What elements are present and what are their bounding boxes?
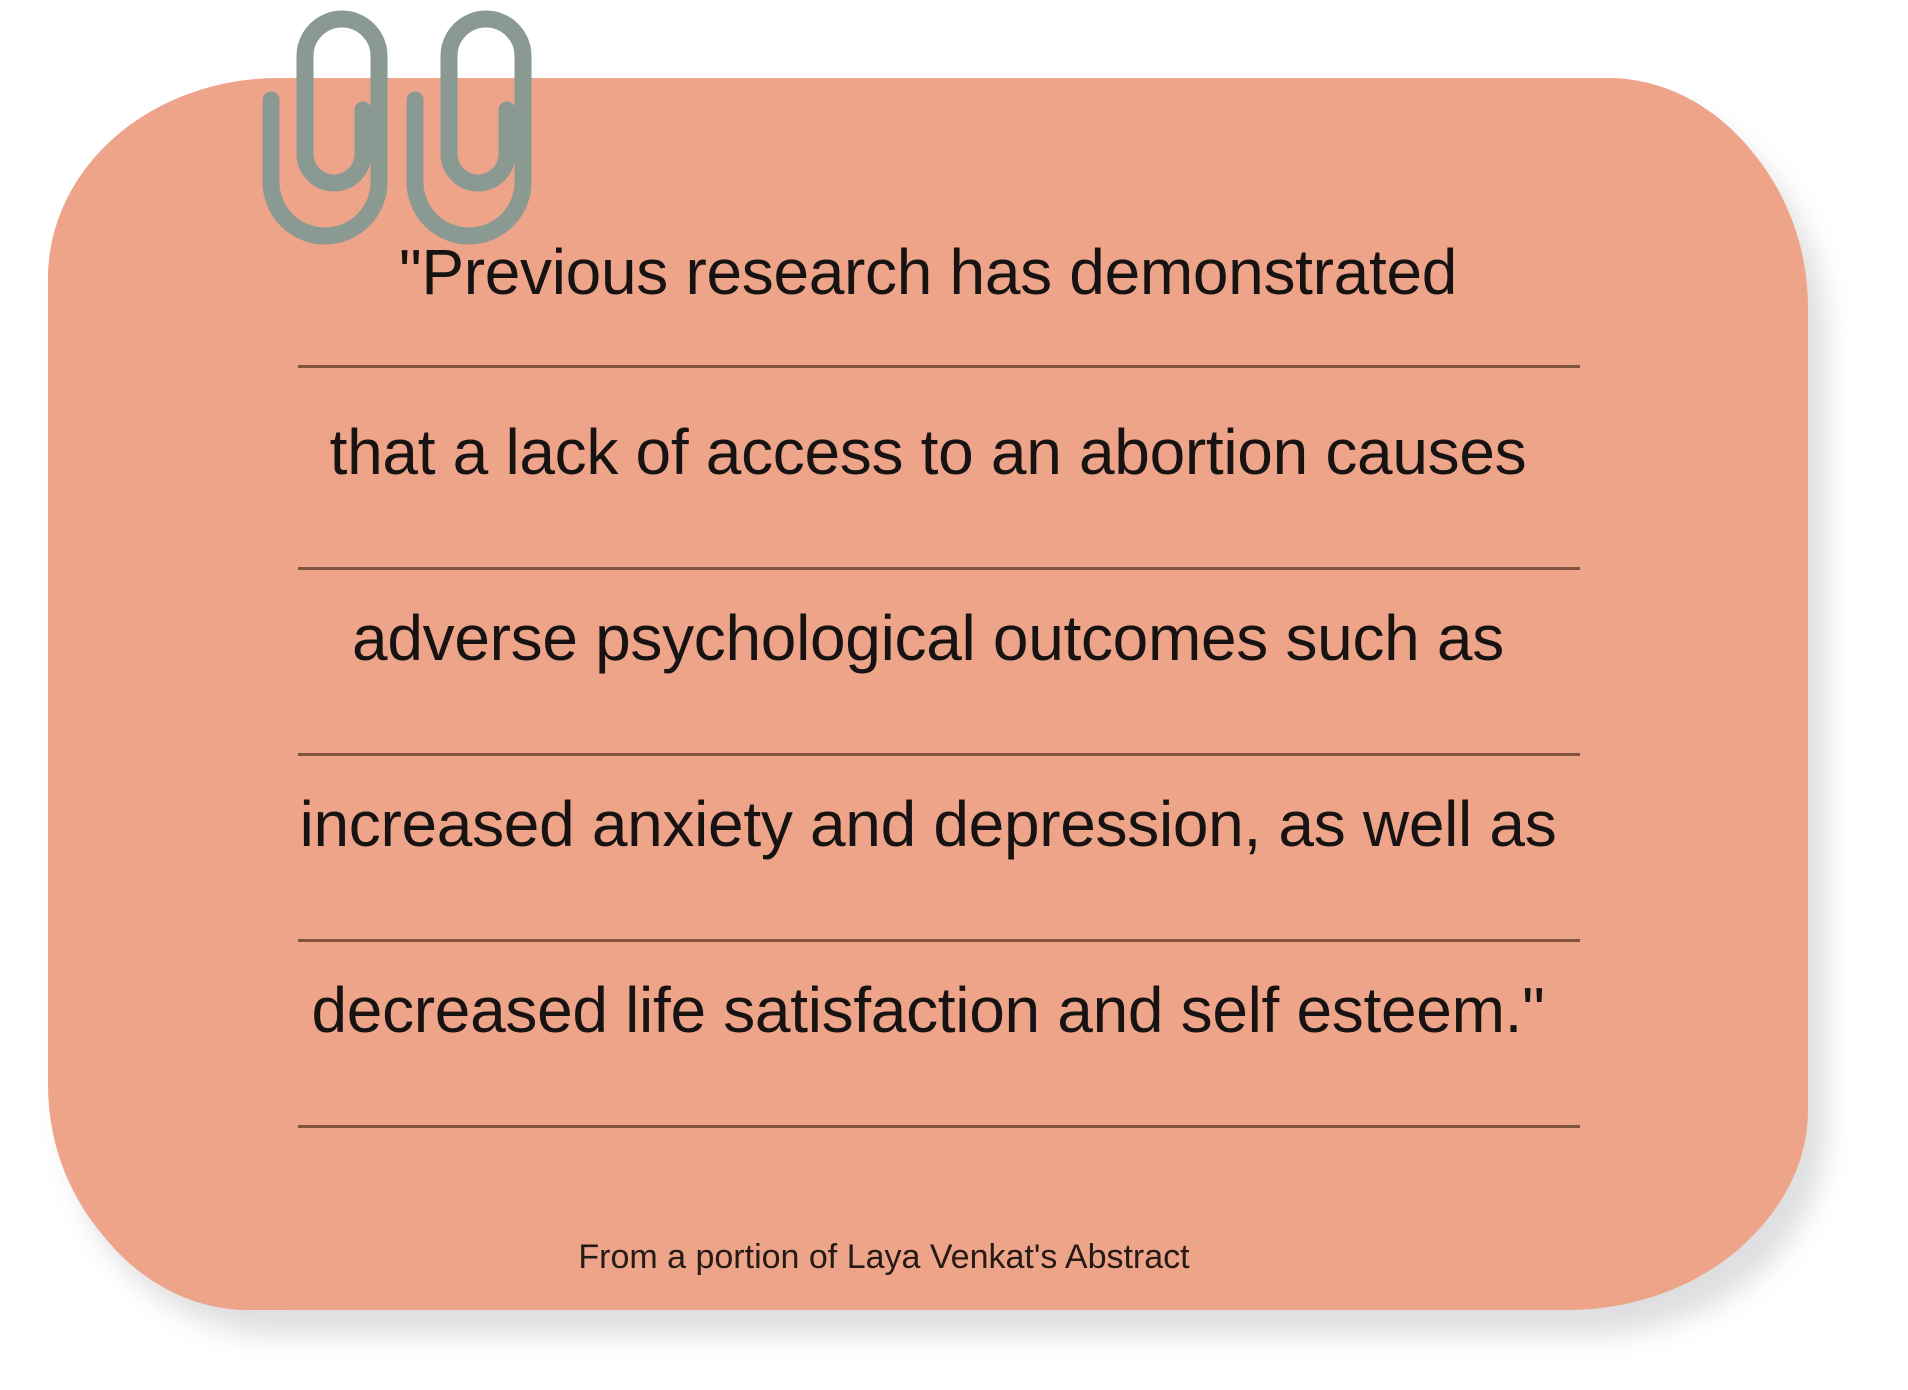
quote-line: adverse psychological outcomes such as: [108, 594, 1748, 780]
attribution-text: From a portion of Laya Venkat's Abstract: [0, 1238, 1908, 1277]
quote-line: increased anxiety and depression, as wel…: [108, 780, 1748, 966]
quote-line-rule: [298, 365, 1580, 368]
quote-line-rule: [298, 753, 1580, 756]
quote-line-text: decreased life satisfaction and self est…: [108, 978, 1748, 1043]
quote-line-text: that a lack of access to an abortion cau…: [108, 420, 1748, 485]
quote-line: that a lack of access to an abortion cau…: [108, 408, 1748, 594]
quote-card-canvas: "Previous research has demonstrated that…: [0, 0, 1908, 1390]
quote-line-rule: [298, 939, 1580, 942]
quote-line-text: increased anxiety and depression, as wel…: [108, 792, 1748, 857]
quote-line-rule: [298, 1125, 1580, 1128]
quote-line-rule: [298, 567, 1580, 570]
paperclip-right-icon: [250, 4, 550, 266]
quote-line-text: adverse psychological outcomes such as: [108, 606, 1748, 671]
quote-line: decreased life satisfaction and self est…: [108, 966, 1748, 1152]
paperclip-group: [250, 4, 550, 266]
